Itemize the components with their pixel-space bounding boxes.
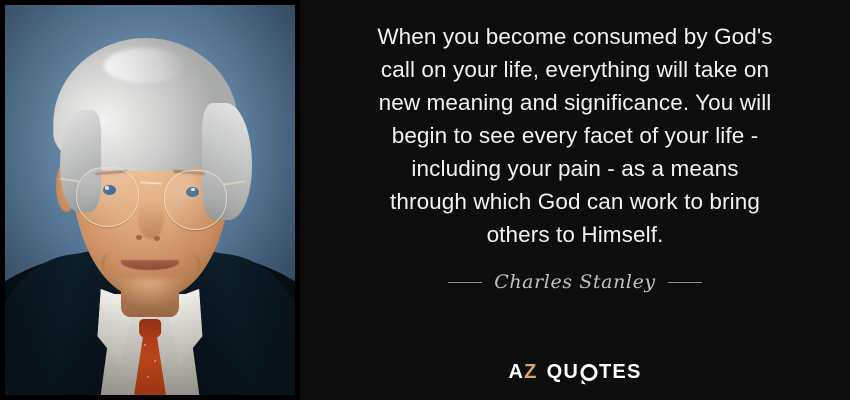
author-portrait-image	[5, 5, 295, 395]
quote-attribution: Charles Stanley	[448, 271, 702, 293]
logo-letter-a: A	[509, 362, 525, 382]
logo-letter-z: Z	[524, 362, 537, 382]
author-name[interactable]: Charles Stanley	[494, 271, 656, 293]
azquotes-logo[interactable]: AZ QU TES	[509, 362, 642, 382]
quote-line: call on your life, everything will take …	[381, 57, 769, 82]
speech-bubble-icon	[580, 364, 597, 381]
quote-line: new meaning and significance. You will	[379, 90, 772, 115]
logo-letters-tes: TES	[599, 362, 642, 382]
quote-text: When you become consumed by God's call o…	[377, 20, 772, 251]
quote-line: including your pain - as a means	[411, 156, 738, 181]
logo-letters-qu: QU	[547, 362, 579, 382]
quote-line: through which God can work to bring	[390, 189, 760, 214]
quote-panel: When you become consumed by God's call o…	[300, 0, 850, 400]
quote-line: When you become consumed by God's	[377, 24, 772, 49]
quote-line: others to Himself.	[487, 222, 664, 247]
quote-card: When you become consumed by God's call o…	[0, 0, 850, 400]
attribution-dash-right	[668, 282, 702, 283]
portrait-panel	[0, 0, 300, 400]
quote-line: begin to see every facet of your life -	[392, 123, 759, 148]
portrait-vignette	[5, 5, 295, 395]
attribution-dash-left	[448, 282, 482, 283]
